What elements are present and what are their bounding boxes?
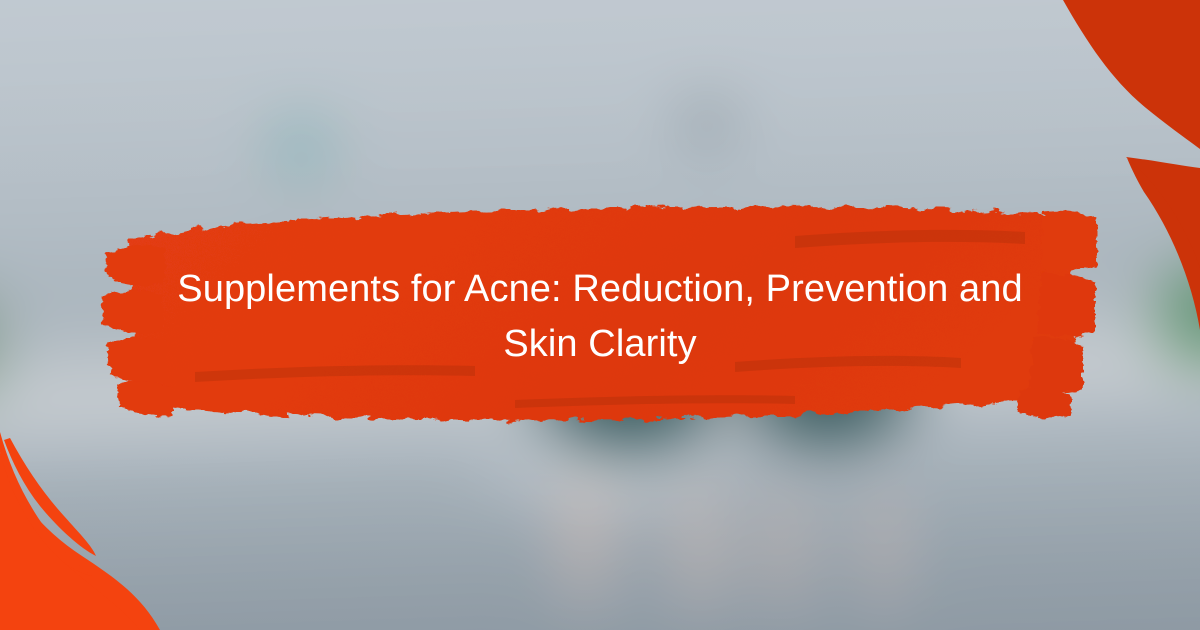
brush-stroke-left-tongue-4	[117, 382, 173, 416]
share-card-canvas: Supplements for Acne: Reduction, Prevent…	[0, 0, 1200, 630]
page-title: Supplements for Acne: Reduction, Prevent…	[150, 262, 1050, 372]
